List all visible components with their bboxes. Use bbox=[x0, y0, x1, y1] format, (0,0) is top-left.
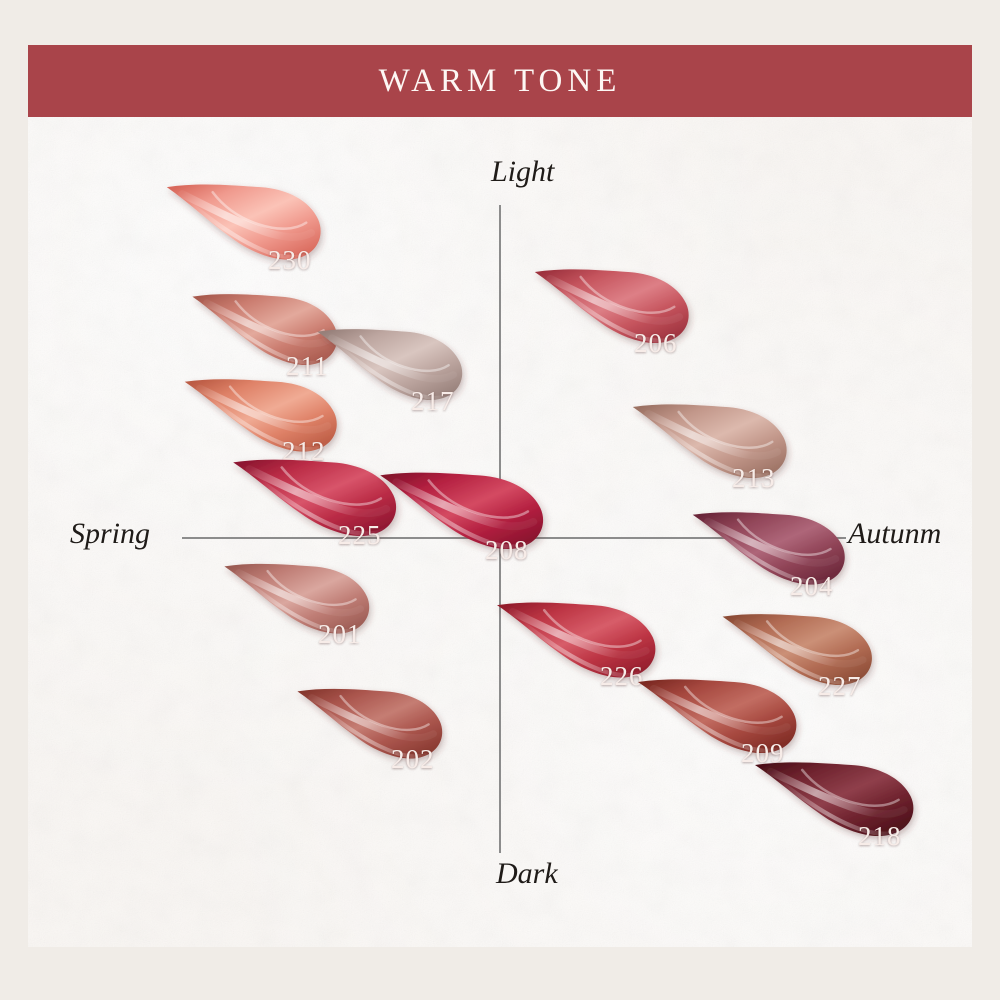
axis-label-autumn: Autunm bbox=[848, 517, 941, 551]
swatch-shape-202 bbox=[291, 682, 451, 784]
header-banner: WARM TONE bbox=[28, 45, 972, 117]
swatch-shape-201 bbox=[218, 557, 378, 659]
swatch-202[interactable]: 202 bbox=[291, 682, 451, 784]
swatch-chart-canvas: Light Dark Spring Autunm 230211217212225… bbox=[28, 117, 972, 947]
swatch-shape-218 bbox=[748, 755, 923, 863]
page-title: WARM TONE bbox=[379, 63, 622, 100]
swatch-213[interactable]: 213 bbox=[626, 397, 796, 505]
swatch-204[interactable]: 204 bbox=[686, 505, 854, 611]
swatch-206[interactable]: 206 bbox=[528, 262, 698, 370]
swatch-218[interactable]: 218 bbox=[748, 755, 923, 863]
swatch-shape-206 bbox=[528, 262, 698, 370]
axis-label-light: Light bbox=[491, 155, 554, 189]
swatch-shape-230 bbox=[160, 177, 330, 287]
swatch-shape-213 bbox=[626, 397, 796, 505]
warm-tone-poster: WARM TONE bbox=[0, 0, 1000, 1000]
swatch-230[interactable]: 230 bbox=[160, 177, 330, 287]
swatch-shape-204 bbox=[686, 505, 854, 611]
axis-label-spring: Spring bbox=[70, 517, 150, 551]
axis-label-dark: Dark bbox=[496, 857, 558, 891]
swatch-shape-208 bbox=[373, 465, 553, 577]
swatch-208[interactable]: 208 bbox=[373, 465, 553, 577]
swatch-201[interactable]: 201 bbox=[218, 557, 378, 659]
